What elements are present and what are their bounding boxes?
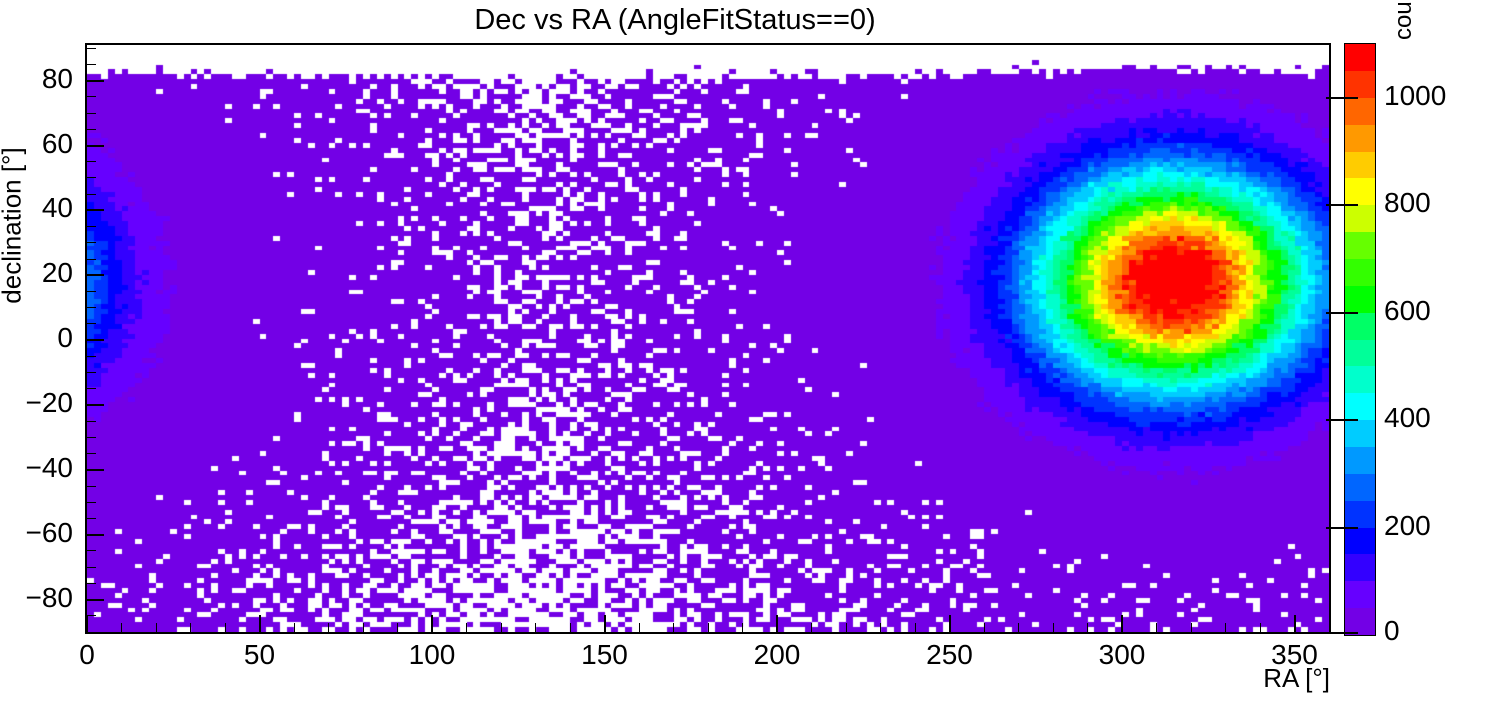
x-tick-minor — [1018, 623, 1019, 632]
x-tick-minor — [1191, 623, 1192, 632]
x-tick-minor — [397, 623, 398, 632]
colorbar-tick-label: 600 — [1384, 295, 1431, 327]
y-tick-minor — [87, 323, 96, 324]
x-tick-minor — [1225, 623, 1226, 632]
x-tick-major — [949, 615, 951, 632]
x-tick-minor — [466, 623, 467, 632]
y-tick-major — [87, 274, 104, 276]
y-tick-label: −80 — [0, 582, 73, 614]
colorbar-band — [1345, 474, 1375, 501]
y-tick-minor — [87, 194, 96, 195]
y-tick-minor — [87, 486, 96, 487]
x-tick-major — [776, 615, 778, 632]
colorbar-title: count — [1390, 0, 1418, 40]
y-tick-minor — [87, 48, 96, 49]
colorbar-tick — [1326, 419, 1358, 421]
colorbar-band — [1345, 528, 1375, 555]
colorbar-tick-label: 1000 — [1384, 80, 1446, 112]
x-tick-label: 250 — [910, 639, 990, 671]
x-tick-minor — [501, 623, 502, 632]
x-tick-minor — [328, 623, 329, 632]
y-tick-major — [87, 145, 104, 147]
colorbar-tick — [1326, 204, 1358, 206]
colorbar-tick — [1326, 527, 1358, 529]
x-tick-minor — [156, 623, 157, 632]
y-tick-minor — [87, 129, 96, 130]
colorbar-band — [1345, 554, 1375, 581]
x-tick-label: 200 — [737, 639, 817, 671]
colorbar-gradient — [1344, 43, 1376, 636]
y-tick-minor — [87, 226, 96, 227]
colorbar-tick-label: 0 — [1384, 615, 1400, 647]
x-tick-major — [1294, 615, 1296, 632]
colorbar-tick — [1326, 97, 1358, 99]
x-tick-minor — [1260, 623, 1261, 632]
y-tick-minor — [87, 437, 96, 438]
colorbar-band — [1345, 340, 1375, 367]
x-tick-minor — [811, 623, 812, 632]
y-tick-minor — [87, 177, 96, 178]
x-tick-minor — [1156, 623, 1157, 632]
page-title: Dec vs RA (AngleFitStatus==0) — [0, 4, 1350, 37]
x-tick-major — [86, 615, 88, 632]
x-tick-label: 0 — [47, 639, 127, 671]
y-tick-minor — [87, 372, 96, 373]
colorbar-tick — [1326, 312, 1358, 314]
y-tick-minor — [87, 615, 96, 616]
y-tick-major — [87, 209, 104, 211]
colorbar-band — [1345, 44, 1375, 71]
y-tick-major — [87, 534, 104, 536]
y-tick-major — [87, 404, 104, 406]
plot-frame — [85, 43, 1331, 634]
y-tick-minor — [87, 356, 96, 357]
x-tick-minor — [846, 623, 847, 632]
x-tick-minor — [915, 623, 916, 632]
colorbar-band — [1345, 98, 1375, 125]
colorbar-tick-label: 400 — [1384, 402, 1431, 434]
x-tick-minor — [535, 623, 536, 632]
colorbar-tick — [1326, 632, 1358, 634]
x-tick-minor — [1087, 623, 1088, 632]
y-tick-label: −40 — [0, 452, 73, 484]
y-tick-minor — [87, 307, 96, 308]
colorbar-band — [1345, 152, 1375, 179]
colorbar: 02004006008001000 — [1344, 43, 1374, 634]
colorbar-band — [1345, 447, 1375, 474]
y-tick-minor — [87, 388, 96, 389]
y-tick-major — [87, 469, 104, 471]
x-tick-label: 50 — [220, 639, 300, 671]
x-tick-minor — [121, 623, 122, 632]
x-tick-minor — [363, 623, 364, 632]
y-tick-minor — [87, 291, 96, 292]
colorbar-band — [1345, 205, 1375, 232]
y-axis-title: declination [°] — [0, 96, 28, 356]
x-tick-major — [431, 615, 433, 632]
y-tick-minor — [87, 550, 96, 551]
x-tick-major — [259, 615, 261, 632]
y-tick-major — [87, 339, 104, 341]
colorbar-band — [1345, 608, 1375, 635]
y-tick-minor — [87, 64, 96, 65]
colorbar-band — [1345, 366, 1375, 393]
colorbar-band — [1345, 125, 1375, 152]
colorbar-band — [1345, 178, 1375, 205]
colorbar-band — [1345, 71, 1375, 98]
y-tick-label: −60 — [0, 517, 73, 549]
y-tick-minor — [87, 583, 96, 584]
colorbar-band — [1345, 286, 1375, 313]
y-tick-minor — [87, 453, 96, 454]
y-tick-major — [87, 80, 104, 82]
histogram-heatmap — [87, 45, 1329, 632]
x-tick-minor — [984, 623, 985, 632]
y-tick-minor — [87, 567, 96, 568]
colorbar-band — [1345, 232, 1375, 259]
x-tick-label: 100 — [392, 639, 472, 671]
colorbar-band — [1345, 259, 1375, 286]
x-tick-minor — [880, 623, 881, 632]
colorbar-band — [1345, 313, 1375, 340]
colorbar-band — [1345, 501, 1375, 528]
x-tick-minor — [225, 623, 226, 632]
colorbar-tick-label: 200 — [1384, 510, 1431, 542]
x-tick-minor — [708, 623, 709, 632]
x-tick-minor — [1053, 623, 1054, 632]
y-tick-minor — [87, 161, 96, 162]
colorbar-band — [1345, 393, 1375, 420]
x-tick-label: 150 — [565, 639, 645, 671]
y-tick-label: −20 — [0, 387, 73, 419]
x-tick-minor — [570, 623, 571, 632]
colorbar-band — [1345, 581, 1375, 608]
y-tick-major — [87, 599, 104, 601]
x-tick-minor — [742, 623, 743, 632]
x-tick-minor — [673, 623, 674, 632]
colorbar-tick-label: 800 — [1384, 187, 1431, 219]
x-tick-minor — [294, 623, 295, 632]
x-tick-major — [1121, 615, 1123, 632]
x-tick-label: 300 — [1082, 639, 1162, 671]
x-tick-major — [604, 615, 606, 632]
x-tick-minor — [1329, 623, 1330, 632]
colorbar-band — [1345, 420, 1375, 447]
x-axis-title: RA [°] — [1160, 663, 1330, 694]
y-tick-minor — [87, 502, 96, 503]
y-tick-label: 80 — [0, 63, 73, 95]
y-tick-minor — [87, 259, 96, 260]
y-tick-minor — [87, 242, 96, 243]
y-tick-minor — [87, 421, 96, 422]
x-tick-minor — [639, 623, 640, 632]
y-tick-minor — [87, 518, 96, 519]
y-tick-minor — [87, 632, 96, 633]
root-canvas: Dec vs RA (AngleFitStatus==0) 0501001502… — [0, 0, 1496, 722]
x-tick-minor — [190, 623, 191, 632]
y-tick-minor — [87, 96, 96, 97]
y-tick-minor — [87, 113, 96, 114]
